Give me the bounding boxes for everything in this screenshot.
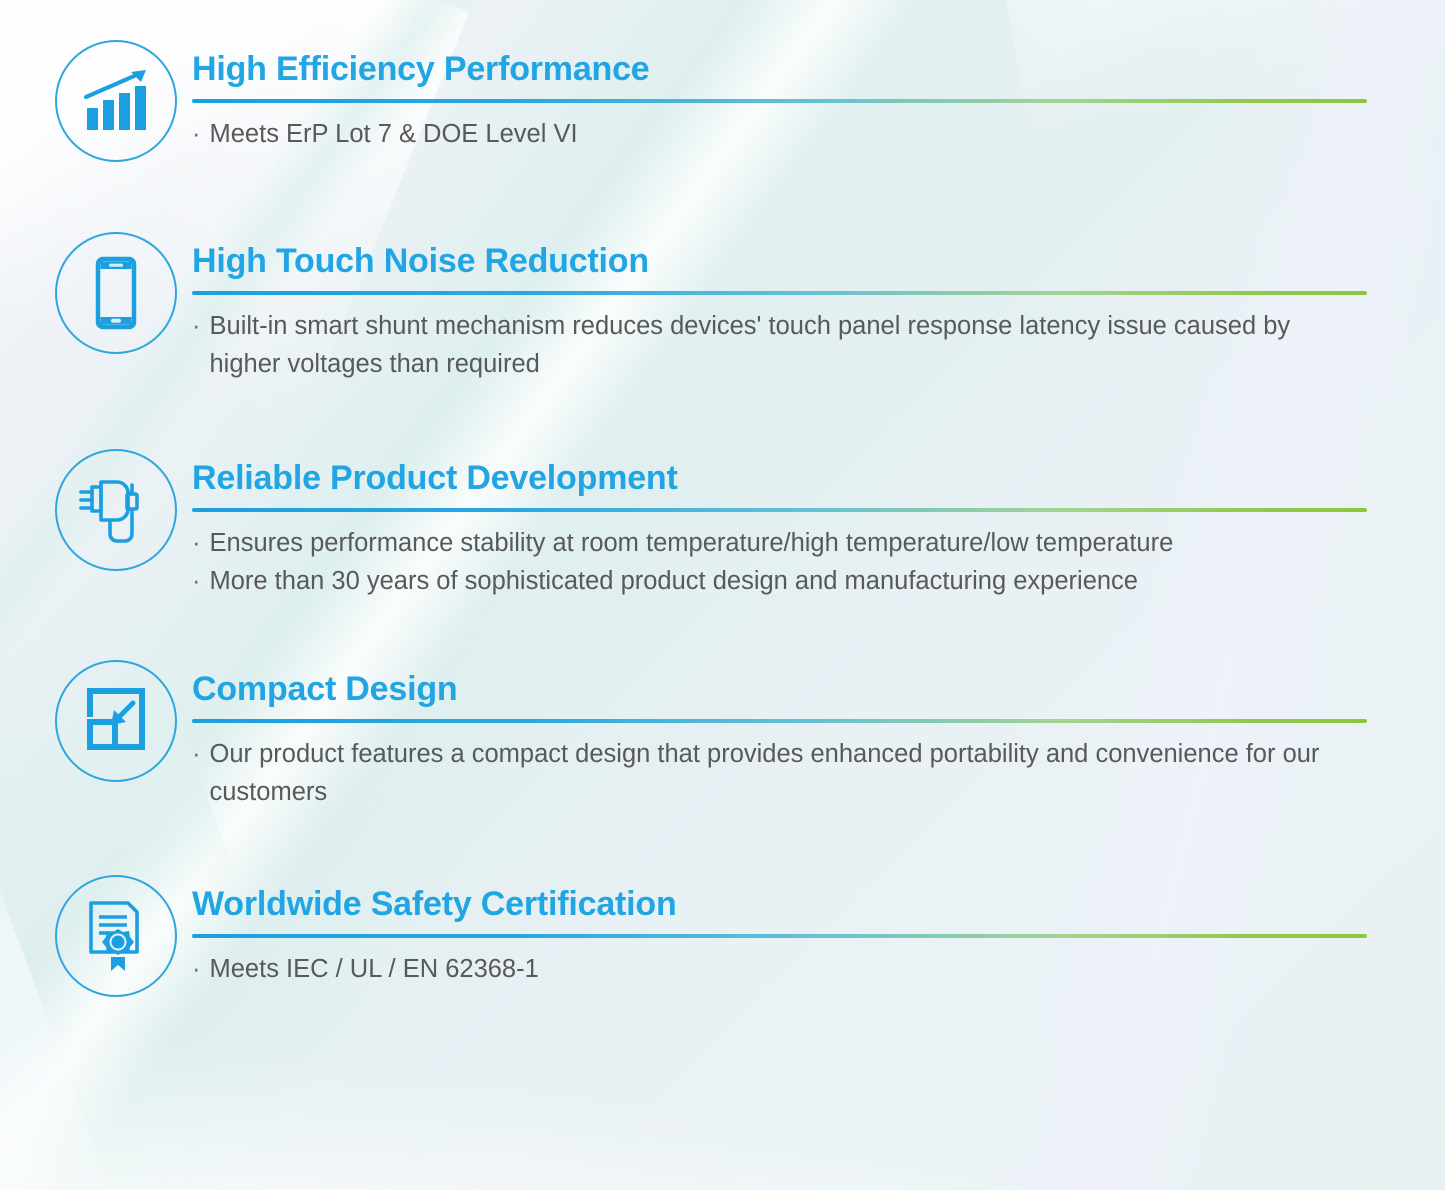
feature-bullets: · Built-in smart shunt mechanism reduces…	[192, 308, 1367, 383]
icon-circle	[55, 875, 177, 997]
feature-bullet: · Meets IEC / UL / EN 62368-1	[192, 951, 1367, 988]
feature-divider	[192, 719, 1367, 723]
feature-body: Compact Design · Our product features a …	[180, 656, 1445, 811]
bullet-marker: ·	[192, 951, 201, 988]
feature-icon-wrap	[52, 445, 180, 571]
feature-body: Reliable Product Development · Ensures p…	[180, 445, 1445, 600]
feature-icon-wrap	[52, 36, 180, 162]
feature-icon-wrap	[52, 656, 180, 782]
icon-circle	[55, 232, 177, 354]
bullet-marker: ·	[192, 525, 201, 562]
feature-title: High Touch Noise Reduction	[192, 242, 1367, 280]
feature-bullets: · Meets ErP Lot 7 & DOE Level VI	[192, 116, 1367, 153]
smartphone-icon	[84, 256, 148, 330]
feature-item-high-efficiency-performance: High Efficiency Performance · Meets ErP …	[0, 36, 1445, 162]
bullet-marker: ·	[192, 308, 201, 345]
power-adapter-icon	[77, 474, 155, 546]
feature-body: Worldwide Safety Certification · Meets I…	[180, 871, 1445, 989]
feature-body: High Efficiency Performance · Meets ErP …	[180, 36, 1445, 154]
icon-circle	[55, 660, 177, 782]
feature-divider	[192, 934, 1367, 938]
feature-bullets: · Our product features a compact design …	[192, 736, 1367, 811]
certificate-seal-icon	[81, 899, 151, 973]
icon-circle	[55, 40, 177, 162]
feature-icon-wrap	[52, 228, 180, 354]
feature-bullet: · Ensures performance stability at room …	[192, 525, 1367, 562]
feature-divider	[192, 508, 1367, 512]
feature-icon-wrap	[52, 871, 180, 997]
feature-item-worldwide-safety-certification: Worldwide Safety Certification · Meets I…	[0, 871, 1445, 997]
compact-resize-icon	[81, 686, 151, 756]
feature-bullets: · Ensures performance stability at room …	[192, 525, 1367, 600]
bullet-text: Built-in smart shunt mechanism reduces d…	[210, 308, 1368, 383]
bullet-text: More than 30 years of sophisticated prod…	[210, 563, 1368, 600]
feature-divider	[192, 291, 1367, 295]
icon-circle	[55, 449, 177, 571]
bullet-text: Meets ErP Lot 7 & DOE Level VI	[210, 116, 1368, 153]
bar-chart-growth-icon	[79, 64, 153, 138]
feature-bullet: · Built-in smart shunt mechanism reduces…	[192, 308, 1367, 383]
feature-divider	[192, 99, 1367, 103]
feature-list: High Efficiency Performance · Meets ErP …	[0, 0, 1445, 997]
feature-title: Reliable Product Development	[192, 459, 1367, 497]
bullet-marker: ·	[192, 116, 201, 153]
feature-bullet: · Meets ErP Lot 7 & DOE Level VI	[192, 116, 1367, 153]
bullet-text: Meets IEC / UL / EN 62368-1	[210, 951, 1368, 988]
feature-title: Compact Design	[192, 670, 1367, 708]
bullet-marker: ·	[192, 736, 201, 773]
feature-item-reliable-product-development: Reliable Product Development · Ensures p…	[0, 445, 1445, 600]
feature-item-high-touch-noise-reduction: High Touch Noise Reduction · Built-in sm…	[0, 228, 1445, 383]
feature-body: High Touch Noise Reduction · Built-in sm…	[180, 228, 1445, 383]
bullet-marker: ·	[192, 563, 201, 600]
feature-item-compact-design: Compact Design · Our product features a …	[0, 656, 1445, 811]
bullet-text: Our product features a compact design th…	[210, 736, 1368, 811]
feature-bullet: · Our product features a compact design …	[192, 736, 1367, 811]
feature-title: High Efficiency Performance	[192, 50, 1367, 88]
feature-bullet: · More than 30 years of sophisticated pr…	[192, 563, 1367, 600]
bullet-text: Ensures performance stability at room te…	[210, 525, 1368, 562]
background-band-bottom-sweep	[0, 1010, 1445, 1190]
feature-bullets: · Meets IEC / UL / EN 62368-1	[192, 951, 1367, 988]
feature-title: Worldwide Safety Certification	[192, 885, 1367, 923]
